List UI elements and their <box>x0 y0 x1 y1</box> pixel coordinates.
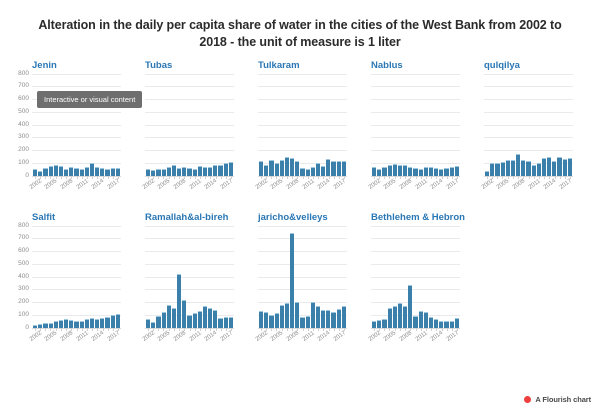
x-axis-tick <box>287 176 288 179</box>
x-axis-tick <box>384 328 385 331</box>
bar[interactable] <box>167 167 171 176</box>
x-axis-tick <box>231 328 232 331</box>
panel-title: Nablus <box>371 60 460 71</box>
bar[interactable] <box>542 158 546 176</box>
x-axis-tick <box>339 176 340 179</box>
bar[interactable] <box>382 167 386 176</box>
x-axis-tick <box>276 176 277 179</box>
bar[interactable] <box>213 310 217 328</box>
x-axis-tick <box>118 176 119 179</box>
y-axis-tick-label: 600 <box>18 96 29 102</box>
bar[interactable] <box>326 159 330 176</box>
x-axis-tick-label: 2017 <box>446 178 460 191</box>
bar[interactable] <box>259 161 263 175</box>
x-axis-tick <box>431 328 432 331</box>
plot-area <box>371 226 460 328</box>
bar[interactable] <box>280 305 284 327</box>
bar[interactable] <box>413 316 417 327</box>
bar[interactable] <box>290 158 294 176</box>
plot-area <box>258 226 347 328</box>
x-axis-tick <box>416 176 417 179</box>
bar[interactable] <box>116 314 120 327</box>
bar[interactable] <box>172 308 176 328</box>
x-axis: 200220052008201120142017 <box>32 176 121 202</box>
bar[interactable] <box>372 167 376 176</box>
panel-row-2: Salfit8007006005004003002001000200220052… <box>0 212 600 354</box>
bar[interactable] <box>326 310 330 327</box>
x-axis-tick-label: 2008 <box>399 178 413 191</box>
panel-salfit: Salfit8007006005004003002001000200220052… <box>8 212 121 354</box>
bar[interactable] <box>413 168 417 176</box>
x-axis-tick <box>92 176 93 179</box>
x-axis-tick <box>508 176 509 179</box>
x-axis-ticks <box>32 328 121 331</box>
flourish-chart-root: Alteration in the daily per capita share… <box>0 8 600 411</box>
plot-area <box>258 74 347 176</box>
x-axis-tick <box>457 176 458 179</box>
x-axis-tick-label: 2008 <box>60 330 74 343</box>
bar[interactable] <box>526 161 530 176</box>
x-axis-tick <box>329 328 330 331</box>
x-axis-tick <box>271 328 272 331</box>
bar[interactable] <box>224 317 228 327</box>
flourish-credit[interactable]: A Flourish chart <box>524 395 591 404</box>
x-axis-tick-label: 2002 <box>141 178 155 191</box>
bar[interactable] <box>316 306 320 328</box>
bar-group <box>371 226 460 328</box>
x-axis-tick <box>452 176 453 179</box>
bar[interactable] <box>398 303 402 327</box>
bar[interactable] <box>275 313 279 328</box>
x-axis-tick <box>323 328 324 331</box>
x-axis-tick <box>261 328 262 331</box>
bar[interactable] <box>439 321 443 328</box>
x-axis-tick-label: 2005 <box>157 330 171 343</box>
bar[interactable] <box>90 318 94 328</box>
bar[interactable] <box>388 308 392 328</box>
bar[interactable] <box>300 168 304 176</box>
bar[interactable] <box>311 302 315 328</box>
bar[interactable] <box>450 321 454 328</box>
bar[interactable] <box>403 165 407 175</box>
x-axis-tick-label: 2017 <box>446 330 460 343</box>
x-axis-tick-label: 2002 <box>480 178 494 191</box>
bar[interactable] <box>547 157 551 175</box>
x-axis-tick <box>374 328 375 331</box>
x-axis-tick <box>389 176 390 179</box>
bar[interactable] <box>182 167 186 176</box>
x-axis-tick <box>282 328 283 331</box>
bar[interactable] <box>331 161 335 175</box>
x-axis-tick-label: 2011 <box>76 330 90 342</box>
panel-row-1: Jenin80070060050040030020010002002200520… <box>0 60 600 202</box>
bar[interactable] <box>213 165 217 175</box>
x-axis-tick <box>405 176 406 179</box>
bar[interactable] <box>85 319 89 327</box>
bar[interactable] <box>429 167 433 175</box>
bar[interactable] <box>563 159 567 176</box>
bar[interactable] <box>511 160 515 176</box>
bar[interactable] <box>295 161 299 176</box>
x-axis-tick <box>87 328 88 331</box>
y-axis-tick-label: 500 <box>18 261 29 267</box>
bar[interactable] <box>218 165 222 176</box>
bar[interactable] <box>342 306 346 327</box>
x-axis-tick <box>200 328 201 331</box>
panel-bethlehem-hebron: Bethlehem & Hebron2002200520082011201420… <box>347 212 460 354</box>
x-axis-tick <box>82 176 83 179</box>
plot-area <box>484 74 573 176</box>
bar[interactable] <box>177 168 181 176</box>
bar[interactable] <box>434 168 438 176</box>
x-axis-tick-label: 2011 <box>76 178 90 190</box>
x-axis-ticks <box>145 328 234 331</box>
x-axis-tick <box>77 176 78 179</box>
bar[interactable] <box>331 312 335 327</box>
y-axis-tick-label: 300 <box>18 286 29 292</box>
bar[interactable] <box>198 166 202 176</box>
bar[interactable] <box>64 169 68 176</box>
bar[interactable] <box>264 312 268 328</box>
bar[interactable] <box>59 320 63 328</box>
bar[interactable] <box>408 285 412 328</box>
x-axis-tick <box>292 328 293 331</box>
bar[interactable] <box>116 168 120 176</box>
x-axis-tick <box>487 176 488 179</box>
plot-area <box>371 74 460 176</box>
bar[interactable] <box>203 306 207 328</box>
x-axis-tick <box>226 176 227 179</box>
bar[interactable] <box>275 163 279 175</box>
bar[interactable] <box>382 319 386 328</box>
x-axis: 200220052008201120142017 <box>258 176 347 202</box>
bar[interactable] <box>290 233 294 327</box>
x-axis-tick <box>457 328 458 331</box>
x-axis-tick-label: 2014 <box>91 178 105 191</box>
x-axis-tick <box>190 328 191 331</box>
x-axis-tick-label: 2017 <box>559 178 573 191</box>
x-axis-tick <box>442 328 443 331</box>
x-axis-tick-label: 2014 <box>91 330 105 343</box>
x-axis-tick-label: 2008 <box>173 178 187 191</box>
x-axis-tick-label: 2017 <box>107 330 121 343</box>
bar[interactable] <box>403 306 407 328</box>
bar[interactable] <box>321 310 325 328</box>
x-axis-tick <box>405 328 406 331</box>
bar[interactable] <box>419 169 423 176</box>
bar[interactable] <box>311 167 315 176</box>
x-axis-tick-label: 2002 <box>254 330 268 343</box>
bar[interactable] <box>156 316 160 327</box>
bar[interactable] <box>259 311 263 328</box>
x-axis-tick <box>334 328 335 331</box>
x-axis-tick <box>400 328 401 331</box>
x-axis-tick <box>50 176 51 179</box>
x-axis-tick-label: 2002 <box>141 330 155 343</box>
bar[interactable] <box>557 157 561 175</box>
x-axis-tick <box>513 176 514 179</box>
y-axis-tick-label: 800 <box>18 223 29 229</box>
x-axis-tick <box>297 328 298 331</box>
bar[interactable] <box>193 313 197 327</box>
x-axis-tick-label: 2014 <box>204 330 218 343</box>
bar[interactable] <box>33 169 37 176</box>
x-axis-tick <box>308 328 309 331</box>
x-axis-tick-label: 2014 <box>543 178 557 191</box>
flourish-logo-icon <box>524 396 531 403</box>
bar[interactable] <box>398 165 402 176</box>
x-axis-tick <box>169 176 170 179</box>
x-axis-tick <box>529 176 530 179</box>
bar[interactable] <box>306 169 310 176</box>
bar[interactable] <box>434 319 438 328</box>
x-axis-tick <box>421 328 422 331</box>
bar[interactable] <box>490 163 494 175</box>
bar[interactable] <box>568 158 572 175</box>
x-axis-tick <box>313 328 314 331</box>
x-axis-tick-label: 2017 <box>107 178 121 191</box>
x-axis-tick <box>334 176 335 179</box>
bar[interactable] <box>424 167 428 175</box>
x-axis-tick <box>318 176 319 179</box>
x-axis: 200220052008201120142017 <box>32 328 121 354</box>
y-axis-labels: 8007006005004003002001000 <box>7 226 29 328</box>
bar[interactable] <box>285 303 289 328</box>
bar[interactable] <box>300 317 304 327</box>
x-axis-tick <box>103 176 104 179</box>
x-axis-tick-label: 2008 <box>173 330 187 343</box>
bar[interactable] <box>69 320 73 328</box>
x-axis-tick <box>344 176 345 179</box>
x-axis-tick <box>323 176 324 179</box>
x-axis-tick <box>287 328 288 331</box>
x-axis-tick <box>549 176 550 179</box>
x-axis-tick <box>339 328 340 331</box>
bar[interactable] <box>203 167 207 176</box>
bar[interactable] <box>100 168 104 176</box>
x-axis-tick-label: 2002 <box>28 330 42 343</box>
bar[interactable] <box>306 316 310 327</box>
x-axis-tick <box>71 176 72 179</box>
x-axis-tick <box>210 176 211 179</box>
panel-tubas: Tubas200220052008201120142017 <box>121 60 234 202</box>
bar[interactable] <box>501 162 505 175</box>
bar[interactable] <box>532 165 536 175</box>
bar[interactable] <box>193 169 197 176</box>
bar[interactable] <box>85 167 89 176</box>
x-axis-tick <box>271 176 272 179</box>
bar[interactable] <box>105 317 109 328</box>
bar[interactable] <box>146 319 150 327</box>
x-axis-tick-label: 2014 <box>317 178 331 191</box>
y-axis-tick-label: 500 <box>18 109 29 115</box>
bar[interactable] <box>552 161 556 176</box>
panel-qulqilya: qulqilya200220052008201120142017 <box>460 60 573 202</box>
x-axis-tick <box>518 176 519 179</box>
x-axis-ticks <box>258 328 347 331</box>
x-axis-tick <box>389 328 390 331</box>
x-axis-tick <box>210 328 211 331</box>
bar[interactable] <box>208 167 212 175</box>
bar[interactable] <box>218 318 222 328</box>
x-axis-tick <box>221 176 222 179</box>
bar[interactable] <box>377 320 381 328</box>
x-axis-tick <box>560 176 561 179</box>
plot-area <box>145 226 234 328</box>
bar[interactable] <box>156 169 160 176</box>
bar[interactable] <box>269 160 273 175</box>
x-axis-tick <box>570 176 571 179</box>
x-axis-tick <box>190 176 191 179</box>
x-axis-tick <box>416 328 417 331</box>
bar[interactable] <box>198 311 202 328</box>
bar[interactable] <box>455 166 459 176</box>
bar[interactable] <box>43 168 47 176</box>
bar[interactable] <box>95 167 99 175</box>
bar[interactable] <box>495 163 499 176</box>
x-axis-tick <box>158 328 159 331</box>
x-axis-tick <box>395 176 396 179</box>
x-axis-tick-label: 2017 <box>333 330 347 343</box>
panel-title: Bethlehem & Hebron <box>371 212 460 223</box>
bar[interactable] <box>177 274 181 328</box>
y-axis-tick-label: 400 <box>18 122 29 128</box>
bar-group <box>145 226 234 328</box>
x-axis-tick <box>35 176 36 179</box>
bar[interactable] <box>450 167 454 176</box>
bar[interactable] <box>95 319 99 328</box>
x-axis-tick-label: 2005 <box>44 178 58 191</box>
x-axis-tick-label: 2011 <box>415 330 429 342</box>
x-axis-tick <box>539 176 540 179</box>
bar[interactable] <box>224 163 228 175</box>
panel-nablus: Nablus200220052008201120142017 <box>347 60 460 202</box>
bar[interactable] <box>172 165 176 175</box>
x-axis-tick <box>431 176 432 179</box>
bar[interactable] <box>444 168 448 176</box>
x-axis-tick <box>452 328 453 331</box>
x-axis-ticks <box>371 328 460 331</box>
x-axis-tick-label: 2017 <box>220 178 234 191</box>
x-axis: 200220052008201120142017 <box>145 176 234 202</box>
bar[interactable] <box>455 318 459 328</box>
bar[interactable] <box>393 164 397 175</box>
x-axis-tick <box>555 176 556 179</box>
x-axis-ticks <box>484 176 573 179</box>
bar[interactable] <box>285 157 289 175</box>
x-axis: 200220052008201120142017 <box>371 176 460 202</box>
x-axis-tick <box>179 176 180 179</box>
x-axis-tick <box>292 176 293 179</box>
x-axis-tick <box>97 328 98 331</box>
bar[interactable] <box>162 312 166 327</box>
bar[interactable] <box>337 309 341 327</box>
x-axis-tick <box>61 176 62 179</box>
x-axis-tick <box>45 176 46 179</box>
x-axis-tick <box>66 176 67 179</box>
x-axis-tick-label: 2014 <box>430 330 444 343</box>
panel-title: Tulkaram <box>258 60 347 71</box>
bar[interactable] <box>182 300 186 327</box>
bar[interactable] <box>54 165 58 175</box>
bar[interactable] <box>537 163 541 176</box>
x-axis-tick <box>282 176 283 179</box>
bar[interactable] <box>208 308 212 327</box>
bar[interactable] <box>74 321 78 328</box>
y-axis-tick-label: 800 <box>18 71 29 77</box>
bar[interactable] <box>516 154 520 176</box>
bar[interactable] <box>105 169 109 176</box>
bar[interactable] <box>372 321 376 328</box>
x-axis-tick <box>179 328 180 331</box>
y-axis-tick-label: 100 <box>18 312 29 318</box>
x-axis-tick <box>502 176 503 179</box>
bar[interactable] <box>269 315 273 328</box>
bar[interactable] <box>280 160 284 175</box>
x-axis-tick-label: 2002 <box>367 178 381 191</box>
bar[interactable] <box>100 318 104 328</box>
x-axis: 200220052008201120142017 <box>371 328 460 354</box>
plot-area: 8007006005004003002001000 <box>32 226 121 328</box>
bar[interactable] <box>337 161 341 176</box>
x-axis: 200220052008201120142017 <box>145 328 234 354</box>
bar[interactable] <box>393 306 397 328</box>
x-axis-tick <box>447 328 448 331</box>
bar[interactable] <box>295 302 299 328</box>
bar[interactable] <box>64 319 68 327</box>
bar[interactable] <box>229 317 233 328</box>
bar[interactable] <box>521 160 525 175</box>
bar[interactable] <box>264 165 268 175</box>
bar[interactable] <box>111 168 115 176</box>
bar[interactable] <box>187 168 191 176</box>
x-axis-tick <box>426 176 427 179</box>
bar[interactable] <box>506 160 510 175</box>
bar[interactable] <box>90 163 94 176</box>
bar[interactable] <box>167 305 171 328</box>
bar[interactable] <box>229 162 233 175</box>
x-axis-tick <box>344 328 345 331</box>
bar[interactable] <box>429 317 433 327</box>
bar[interactable] <box>316 163 320 176</box>
bar[interactable] <box>388 165 392 175</box>
x-axis-tick-label: 2005 <box>270 178 284 191</box>
x-axis-tick <box>82 328 83 331</box>
x-axis-tick-label: 2005 <box>270 330 284 343</box>
bar[interactable] <box>80 321 84 328</box>
bar[interactable] <box>419 311 423 328</box>
x-axis-ticks <box>258 176 347 179</box>
panel-tulkaram: Tulkaram200220052008201120142017 <box>234 60 347 202</box>
bar[interactable] <box>424 312 428 327</box>
x-axis-tick <box>184 328 185 331</box>
bar[interactable] <box>321 166 325 176</box>
bar[interactable] <box>408 167 412 176</box>
bar[interactable] <box>111 315 115 328</box>
bar[interactable] <box>74 168 78 176</box>
x-axis-ticks <box>371 176 460 179</box>
bar[interactable] <box>59 166 63 176</box>
bar[interactable] <box>187 315 191 327</box>
x-axis-tick <box>174 328 175 331</box>
bar[interactable] <box>69 167 73 176</box>
x-axis-tick <box>66 328 67 331</box>
y-axis-tick-label: 100 <box>18 160 29 166</box>
bar[interactable] <box>439 169 443 176</box>
bar[interactable] <box>49 166 53 176</box>
bar[interactable] <box>342 161 346 175</box>
x-axis-tick <box>216 176 217 179</box>
